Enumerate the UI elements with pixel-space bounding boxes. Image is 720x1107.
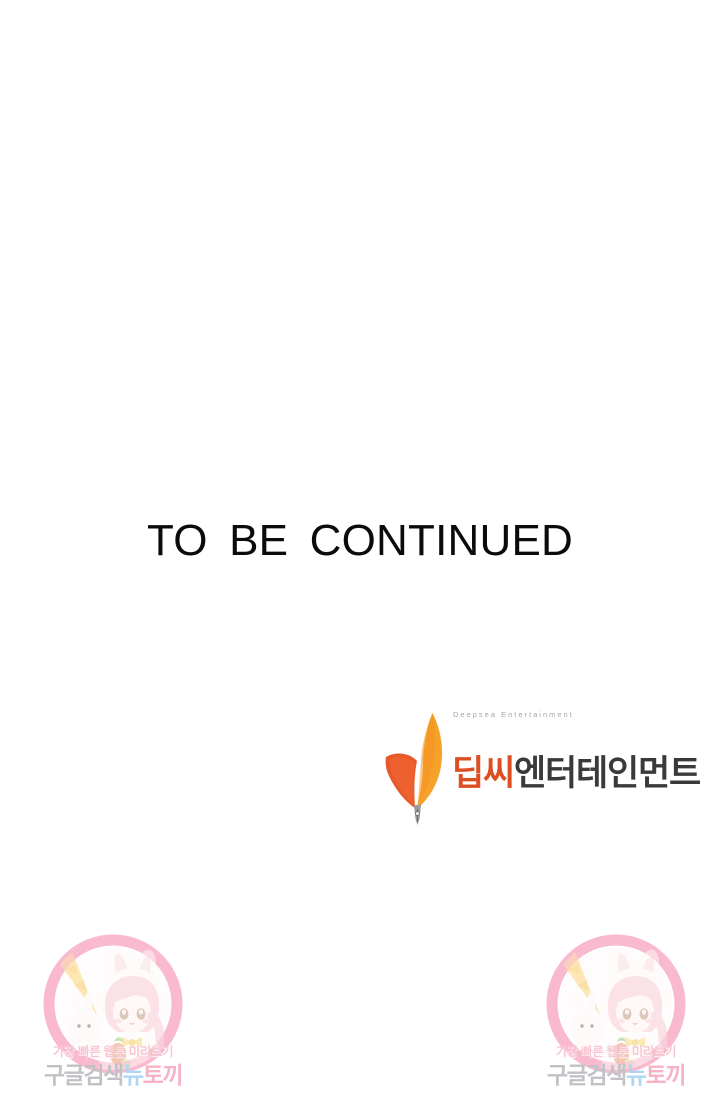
flame-quill-icon [384,709,456,827]
watermark-caption: 가장 빠른 웹툰 미리보기 [533,1041,699,1060]
studio-tagline: Deepsea Entertainment [453,710,574,719]
comic-end-page: TO BE CONTINUED 딥씨엔터테인먼트 Deepsea [0,0,720,1107]
watermark-title-new: 뉴 [123,1062,143,1088]
watermark-caption: 가장 빠른 웹툰 미리보기 [30,1041,196,1060]
studio-logo: 딥씨엔터테인먼트 Deepsea Entertainment [384,709,659,829]
studio-logo-text: 딥씨엔터테인먼트 [452,745,662,807]
watermark-title-toki: 토끼 [646,1062,686,1088]
studio-name-main: 엔터테인먼트 [514,754,700,793]
watermark-title: 구글검색뉴토끼 [533,1063,699,1087]
watermark-title: 구글검색뉴토끼 [30,1063,196,1087]
watermark-title-search: 구글검색 [44,1062,123,1088]
newtoki-watermark-right: 가장 빠른 웹툰 미리보기 구글검색뉴토끼 [533,924,699,1090]
studio-name-accent: 딥씨 [452,754,514,793]
watermark-title-search: 구글검색 [547,1062,626,1088]
studio-name: 딥씨엔터테인먼트 [452,756,700,791]
watermark-title-toki: 토끼 [143,1062,183,1088]
watermark-title-new: 뉴 [626,1062,646,1088]
to-be-continued-block: TO BE CONTINUED [0,519,720,563]
newtoki-watermark-left: 가장 빠른 웹툰 미리보기 구글검색뉴토끼 [30,924,196,1090]
to-be-continued-text: TO BE CONTINUED [147,519,573,563]
